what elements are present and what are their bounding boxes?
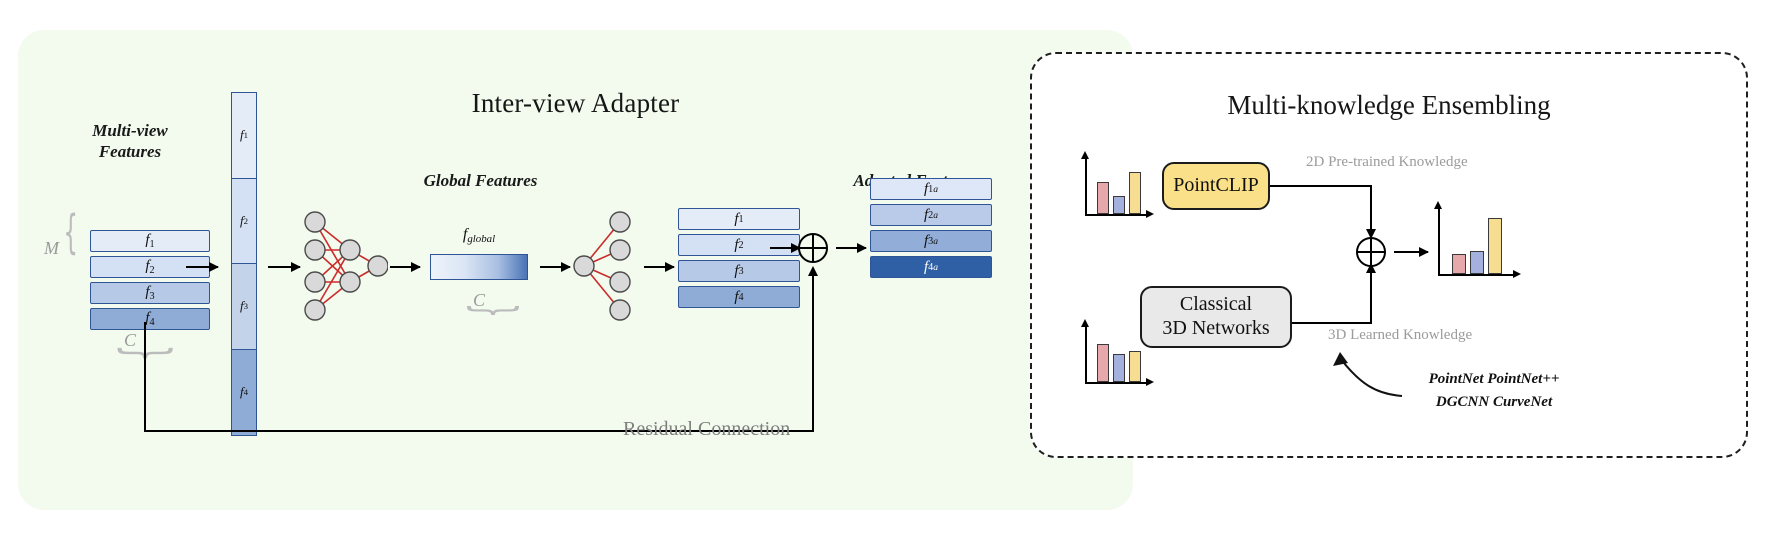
classic3d-edge-arrow-up <box>1370 272 1372 324</box>
concat-cell-2: f2 <box>232 179 256 265</box>
arrow-mlp-to-global <box>390 266 420 268</box>
decoded-feature-row-4: f4 <box>678 286 800 308</box>
residual-connection-label: Residual Connection <box>623 418 790 441</box>
mlp-encoder-graph <box>298 208 388 326</box>
dim-label-c-global: C <box>473 290 485 311</box>
arrow-midstack-to-sum <box>770 247 800 249</box>
chart-ensembled-logits <box>1438 204 1516 276</box>
residual-line-vertical-left <box>144 322 146 432</box>
mv-feature-row-1: f1 <box>90 230 210 252</box>
concatenated-feature-vector: f1 f2 f3 f4 <box>231 92 257 436</box>
chart1-x-axis <box>1085 214 1147 216</box>
mv-feature-row-3: f3 <box>90 282 210 304</box>
arrow-sum-to-adapted <box>836 247 866 249</box>
arrow-stack-to-concat <box>186 266 218 268</box>
chart2-bar-1 <box>1097 344 1109 382</box>
arrow-decoder-to-midstack <box>644 266 674 268</box>
decoded-feature-stack: f1 f2 f3 f4 <box>678 208 800 308</box>
brace-c-global: { <box>458 303 523 318</box>
residual-arrow-into-sum <box>812 275 814 432</box>
chart1-bar-2 <box>1113 196 1125 214</box>
mv-feature-row-4: f4 <box>90 308 210 330</box>
chart3-bar-1 <box>1452 254 1466 274</box>
mv-feature-label-3: f3 <box>145 284 154 302</box>
mv-feature-label-2: f2 <box>145 258 154 276</box>
pointclip-edge-arrow-down <box>1370 185 1372 230</box>
multi-view-features-label: Multi-view Features <box>40 120 220 163</box>
chart1-bar-3 <box>1129 172 1141 214</box>
classical-3d-networks-box[interactable]: Classical 3D Networks <box>1140 286 1292 348</box>
arrow-sum-to-output-chart <box>1394 251 1428 253</box>
figure-root: Inter-view Adapter Multi-view Features {… <box>0 0 1766 550</box>
classic3d-edge-horizontal <box>1292 322 1371 324</box>
global-feature-bar <box>430 254 528 280</box>
adapted-feature-row-2: f2a <box>870 204 992 226</box>
concat-cell-3: f3 <box>232 264 256 350</box>
residual-sum-icon <box>798 233 828 263</box>
decoded-feature-row-3: f3 <box>678 260 800 282</box>
concat-cell-1: f1 <box>232 93 256 179</box>
multi-knowledge-ensembling-panel: Multi-knowledge Ensembling PointCLIP 2D … <box>1030 52 1748 458</box>
adapted-feature-stack: f1a f2a f3a f4a <box>870 178 992 278</box>
pointclip-box[interactable]: PointCLIP <box>1162 162 1270 210</box>
mlp-decoder-nodes <box>574 212 630 320</box>
f-global-label: fglobal <box>430 226 528 245</box>
chart3-bar-2 <box>1470 251 1484 274</box>
concat-cell-4: f4 <box>232 350 256 436</box>
chart2-x-axis <box>1085 382 1147 384</box>
global-features-label: Global Features <box>393 170 568 191</box>
adapted-feature-row-4: f4a <box>870 256 992 278</box>
chart3-y-axis <box>1438 208 1440 276</box>
ensemble-panel-title: Multi-knowledge Ensembling <box>1032 90 1746 121</box>
mlp-decoder-graph <box>570 208 640 326</box>
chart2-y-axis <box>1085 326 1087 384</box>
chart3-bar-3 <box>1488 218 1502 274</box>
decoded-feature-row-2: f2 <box>678 234 800 256</box>
edge-label-2d-knowledge: 2D Pre-trained Knowledge <box>1306 154 1468 171</box>
dim-label-m: M <box>44 238 59 259</box>
arrow-concat-to-mlp <box>268 266 300 268</box>
chart1-bar-1 <box>1097 182 1109 214</box>
brace-m: { <box>63 205 78 259</box>
mv-feature-label-1: f1 <box>145 232 154 250</box>
inter-view-adapter-panel: Inter-view Adapter Multi-view Features {… <box>18 30 1133 510</box>
ensemble-sum-icon <box>1356 237 1386 267</box>
mlp-encoder-nodes <box>305 212 388 320</box>
classical-network-list: PointNet PointNet++ DGCNN CurveNet <box>1384 368 1604 413</box>
chart3-x-axis <box>1438 274 1514 276</box>
chart1-y-axis <box>1085 158 1087 216</box>
pointclip-edge-horizontal <box>1270 185 1371 187</box>
adapted-feature-row-1: f1a <box>870 178 992 200</box>
adapted-feature-row-3: f3a <box>870 230 992 252</box>
chart2-bar-3 <box>1129 351 1141 382</box>
mv-feature-label-4: f4 <box>145 310 154 328</box>
decoded-feature-row-1: f1 <box>678 208 800 230</box>
arrow-global-to-decoder <box>540 266 570 268</box>
chart2-bar-2 <box>1113 354 1125 382</box>
adapter-panel-title: Inter-view Adapter <box>18 88 1133 119</box>
dim-label-c-left: C <box>124 330 136 351</box>
multi-view-feature-stack: f1 f2 f3 f4 <box>90 230 210 330</box>
chart-pointclip-logits <box>1085 156 1149 216</box>
